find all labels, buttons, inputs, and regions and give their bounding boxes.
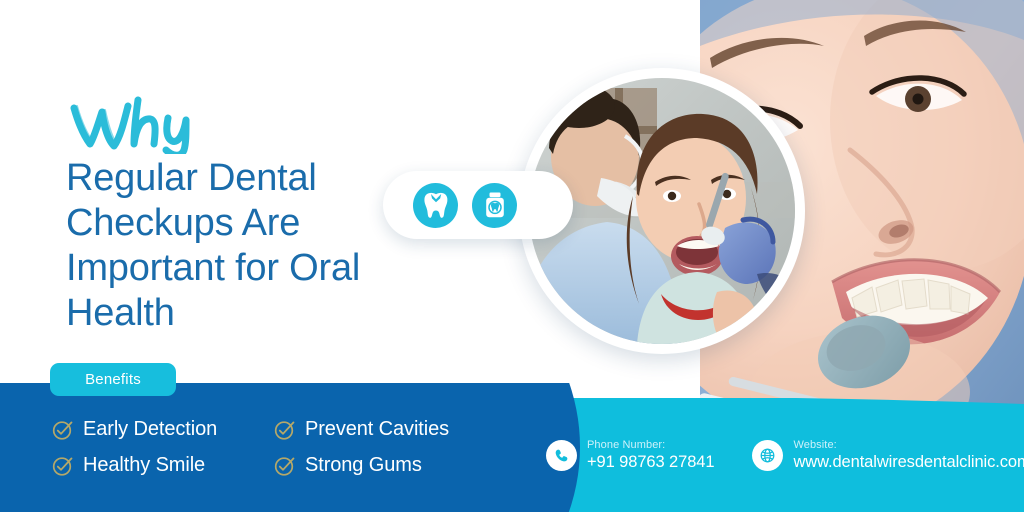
contact-phone[interactable]: Phone Number: +91 98763 27841 — [546, 440, 714, 471]
benefit-item-strong-gums: Strong Gums — [274, 454, 496, 477]
benefits-badge: Benefits — [50, 363, 176, 396]
medicine-jar-icon[interactable] — [472, 183, 517, 228]
check-circle-icon — [52, 419, 74, 441]
script-why-text — [66, 96, 246, 154]
check-circle-icon — [274, 419, 296, 441]
website-value: www.dentalwiresdentalclinic.com — [793, 454, 1024, 471]
benefits-badge-label: Benefits — [85, 371, 141, 388]
phone-value: +91 98763 27841 — [587, 454, 714, 471]
benefit-label: Prevent Cavities — [305, 418, 449, 441]
check-circle-icon — [52, 455, 74, 477]
benefit-label: Healthy Smile — [83, 454, 205, 477]
benefit-label: Early Detection — [83, 418, 217, 441]
headline-block: Regular Dental Checkups Are Important fo… — [66, 96, 466, 336]
phone-label: Phone Number: — [587, 440, 714, 452]
benefit-item-prevent-cavities: Prevent Cavities — [274, 418, 496, 441]
benefits-list: Early Detection Prevent Cavities Healthy… — [52, 418, 502, 477]
page-title: Regular Dental Checkups Are Important fo… — [66, 156, 466, 336]
benefit-item-healthy-smile: Healthy Smile — [52, 454, 274, 477]
check-circle-icon — [274, 455, 296, 477]
contact-website[interactable]: Website: www.dentalwiresdentalclinic.com — [752, 440, 1024, 471]
contact-row: Phone Number: +91 98763 27841 — [546, 440, 1024, 471]
globe-icon — [752, 440, 783, 471]
benefit-label: Strong Gums — [305, 454, 422, 477]
benefit-item-early-detection: Early Detection — [52, 418, 274, 441]
dental-clinic-banner: Regular Dental Checkups Are Important fo… — [0, 0, 1024, 512]
website-label: Website: — [793, 440, 1024, 452]
phone-icon — [546, 440, 577, 471]
